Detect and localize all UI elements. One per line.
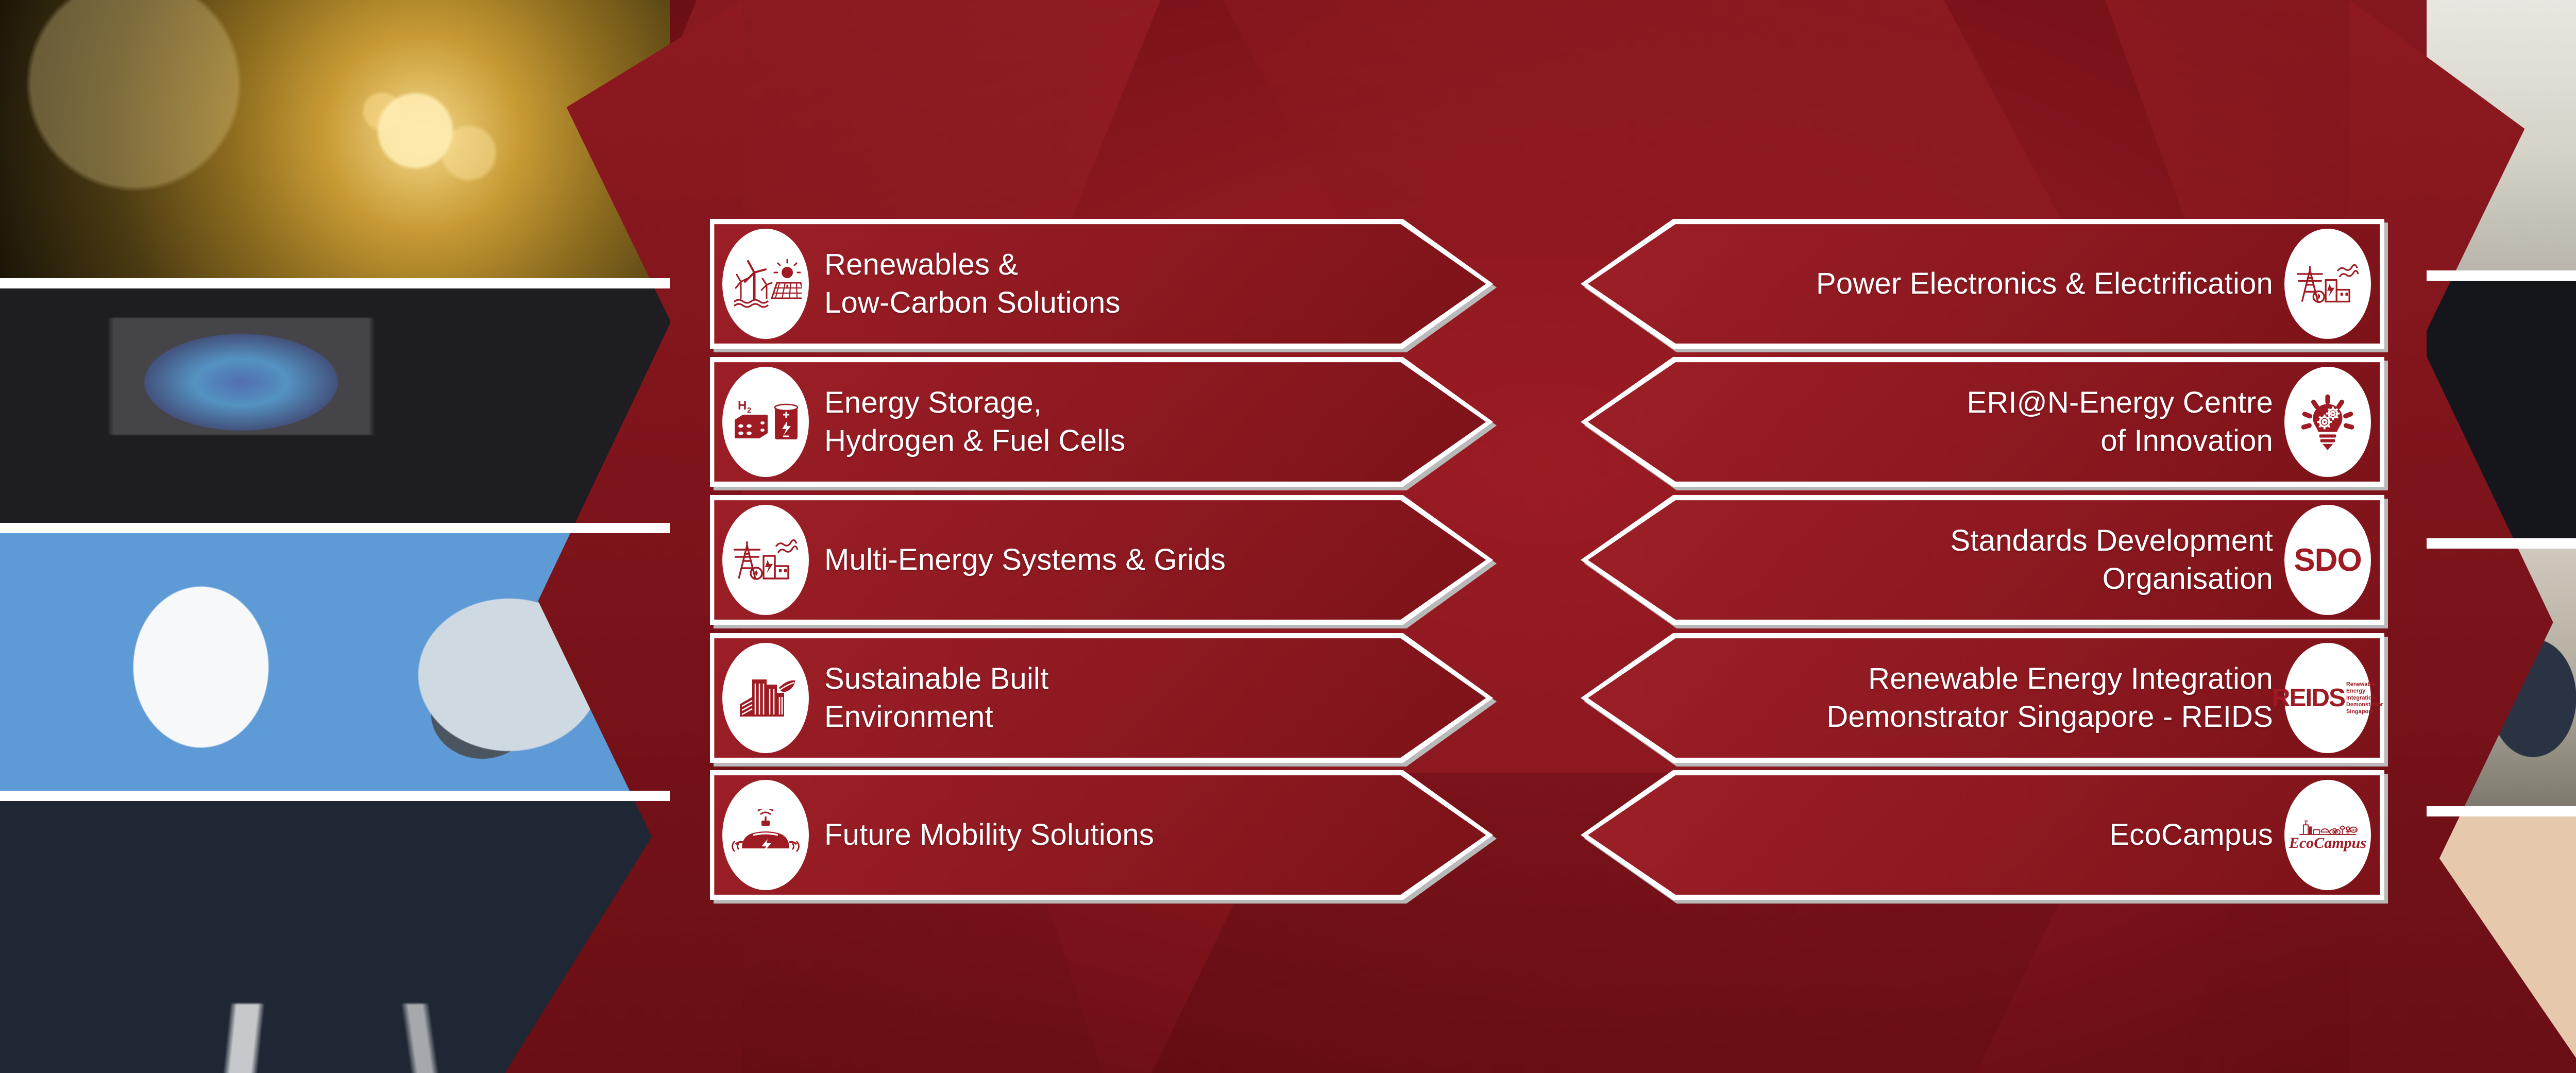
infographic-canvas: Renewables & Low-Carbon Solutions H 2 bbox=[0, 0, 2576, 1073]
svg-text:H: H bbox=[738, 399, 747, 413]
pillar-label: EcoCampus bbox=[2109, 816, 2273, 854]
lightbulb-gears-icon bbox=[2284, 367, 2371, 477]
pillar-label: Standards Development Organisation bbox=[1951, 522, 2273, 598]
pillar-row-multi-energy[interactable]: Multi-Energy Systems & Grids bbox=[710, 495, 1493, 625]
sdo-badge-text: SDO bbox=[2294, 542, 2361, 578]
pillar-label: Renewables & Low-Carbon Solutions bbox=[824, 246, 1121, 322]
pillar-label: Future Mobility Solutions bbox=[824, 816, 1154, 854]
hydrogen-fuelcell-battery-icon: H 2 bbox=[722, 367, 809, 477]
pillar-label: Power Electronics & Electrification bbox=[1816, 265, 2273, 303]
svg-text:2: 2 bbox=[747, 406, 751, 415]
ecocampus-logo: -35% EcoCampus bbox=[2284, 780, 2371, 890]
left-chevron-column: Renewables & Low-Carbon Solutions H 2 bbox=[710, 219, 1493, 900]
left-photo-rail bbox=[0, 0, 685, 1073]
pillar-label: Sustainable Built Environment bbox=[824, 660, 1048, 736]
pillar-label: ERI@N-Energy Centre of Innovation bbox=[1967, 384, 2273, 460]
reids-wordmark: REIDS bbox=[2272, 683, 2345, 712]
connected-electric-car-icon bbox=[722, 780, 809, 890]
ecocampus-wordmark: EcoCampus bbox=[2289, 834, 2366, 852]
right-chevron-column: Power Electronics & Electrification bbox=[1581, 219, 2384, 900]
lab-technician-goggles-photo bbox=[2427, 0, 2576, 270]
wind-turbine-solar-panel-icon bbox=[722, 229, 809, 339]
autonomous-vehicle-photo bbox=[2427, 281, 2576, 538]
pillar-row-future-mobility[interactable]: Future Mobility Solutions bbox=[710, 770, 1493, 900]
control-room-monitors-photo bbox=[2427, 549, 2576, 806]
right-photo-rail bbox=[2406, 0, 2576, 1073]
pylon-powerplant-grid-icon bbox=[722, 505, 809, 615]
pillar-label: Energy Storage, Hydrogen & Fuel Cells bbox=[824, 384, 1125, 460]
sdo-badge: SDO bbox=[2284, 505, 2371, 615]
pillar-row-reids[interactable]: Renewable Energy Integration Demonstrato… bbox=[1581, 633, 2384, 763]
pillar-row-ecocampus[interactable]: EcoCampus bbox=[1581, 770, 2384, 900]
ecocampus-skyline-icon: -35% bbox=[2297, 819, 2358, 836]
pillar-row-erian-coi[interactable]: ERI@N-Energy Centre of Innovation bbox=[1581, 357, 2384, 487]
meeting-room-display-photo bbox=[0, 288, 670, 523]
green-building-icon bbox=[722, 643, 809, 753]
research-pillars-flow: Renewables & Low-Carbon Solutions H 2 bbox=[710, 219, 2384, 900]
pillar-row-renewables[interactable]: Renewables & Low-Carbon Solutions bbox=[710, 219, 1493, 349]
pillar-row-energy-storage[interactable]: H 2 bbox=[710, 357, 1493, 487]
cryostat-gold-chamber-photo bbox=[0, 0, 670, 278]
pillar-row-power-electronics[interactable]: Power Electronics & Electrification bbox=[1581, 219, 2384, 349]
ecocampus-reduction-badge: -35% bbox=[2350, 828, 2357, 831]
outdoor-mobility-testbed-photo bbox=[0, 801, 670, 1073]
pylon-powerplant-grid-icon bbox=[2284, 229, 2371, 339]
pillar-row-sdo[interactable]: Standards Development Organisation SDO bbox=[1581, 495, 2384, 625]
pillar-label: Renewable Energy Integration Demonstrato… bbox=[1826, 660, 2273, 736]
cleanroom-centrifuge-photo bbox=[0, 533, 670, 791]
reids-logo: REIDS Renewable Energy Integration Demon… bbox=[2284, 643, 2371, 753]
researchers-core-samples-photo bbox=[2427, 816, 2576, 1073]
pillar-row-sustainable-built[interactable]: Sustainable Built Environment bbox=[710, 633, 1493, 763]
pillar-label: Multi-Energy Systems & Grids bbox=[824, 541, 1226, 579]
reids-expansion: Renewable Energy Integration Demonstrato… bbox=[2346, 681, 2383, 716]
